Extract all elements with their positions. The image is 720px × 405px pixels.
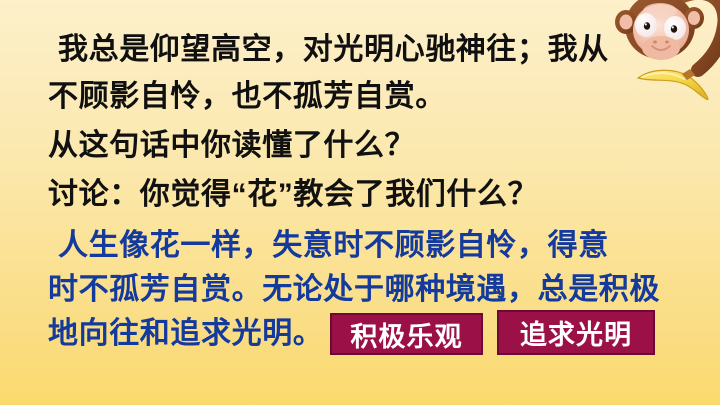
keyword-label-optimistic: 积极乐观 xyxy=(330,313,483,355)
quote-line-1: 我总是仰望高空，对光明心驰神往；我从 xyxy=(58,35,609,65)
keyword-label-pursue-light: 追求光明 xyxy=(497,310,655,355)
answer-line-2: 时不孤芳自赏。无论处于哪种境遇，总是积极 xyxy=(48,275,660,305)
slide-canvas: 我总是仰望高空，对光明心驰神往；我从 不顾影自怜，也不孤芳自赏。 从这句话中你读… xyxy=(0,0,720,405)
question-2: 讨论：你觉得“花”教会了我们什么？ xyxy=(48,180,538,210)
question-1: 从这句话中你读懂了什么？ xyxy=(48,131,415,161)
answer-line-3: 地向往和追求光明。 xyxy=(48,319,323,349)
answer-line-1: 人生像花一样，失意时不顾影自怜，得意 xyxy=(58,231,609,261)
quote-line-2: 不顾影自怜，也不孤芳自赏。 xyxy=(48,82,446,112)
